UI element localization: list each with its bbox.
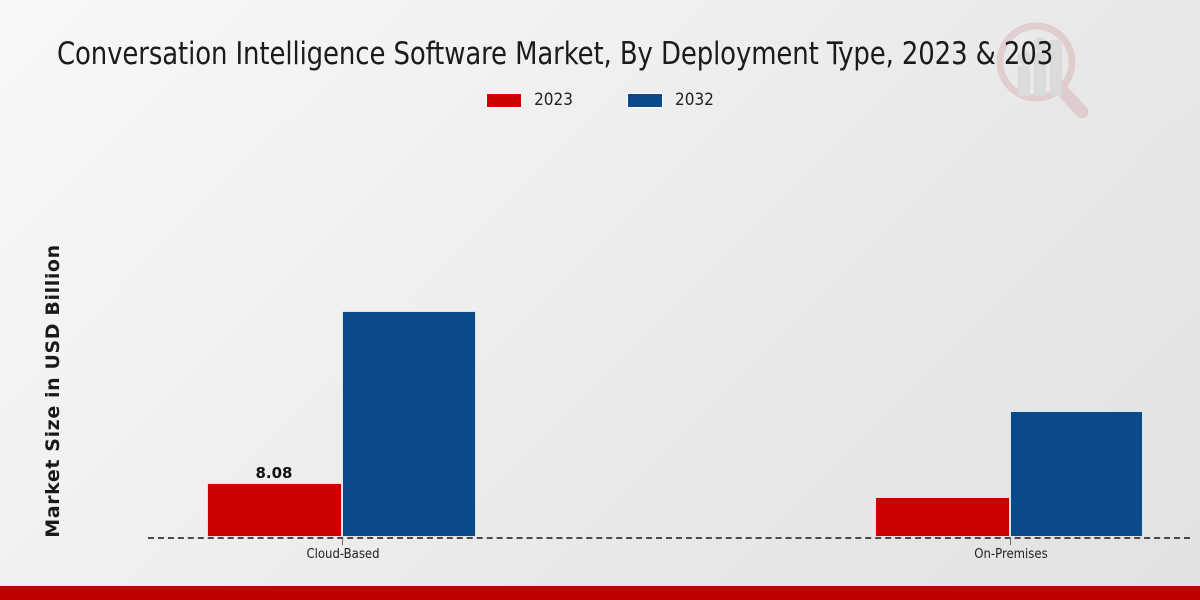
- footer-accent-bar: [0, 586, 1200, 600]
- bar-on-premises-2032[interactable]: [1010, 411, 1143, 537]
- bar-cloud-based-2032[interactable]: [342, 311, 476, 537]
- x-axis-label-cloud-based: Cloud-Based: [263, 547, 423, 562]
- x-axis-baseline: [148, 537, 1190, 539]
- x-axis-label-on-premises: On-Premises: [931, 547, 1091, 562]
- plot-area: 8.08 Cloud-Based On-Premises: [0, 0, 1200, 600]
- bar-cloud-based-2023[interactable]: [207, 483, 342, 537]
- x-axis-tick-on-premises: [1010, 538, 1011, 545]
- x-axis-tick-cloud-based: [342, 538, 343, 545]
- chart-container: Conversation Intelligence Software Marke…: [0, 0, 1200, 600]
- bar-value-label-cloud-based-2023: 8.08: [224, 464, 324, 482]
- bar-on-premises-2023[interactable]: [875, 497, 1010, 537]
